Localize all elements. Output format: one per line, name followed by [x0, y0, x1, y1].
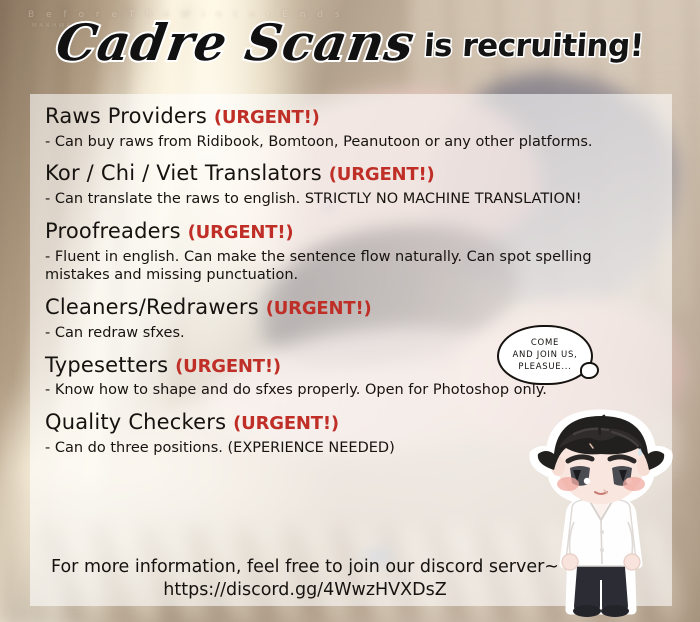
role-item: Raws Providers (URGENT!) - Can buy raws …: [45, 104, 605, 151]
title-main-text: Cadre Scans: [53, 18, 418, 68]
title-tail-text: is recruiting!: [423, 31, 645, 62]
role-description: - Can translate the raws to english. STR…: [45, 190, 605, 209]
footer-invite-text: For more information, feel free to join …: [45, 556, 565, 579]
role-description: - Can buy raws from Ridibook, Bomtoon, P…: [45, 133, 605, 152]
role-item: Proofreaders (URGENT!) - Fluent in engli…: [45, 219, 605, 285]
urgent-badge: (URGENT!): [233, 413, 339, 434]
chibi-blush-left: [557, 477, 579, 491]
role-title: Cleaners/Redrawers (URGENT!): [45, 295, 605, 321]
role-item: Kor / Chi / Viet Translators (URGENT!) -…: [45, 161, 605, 208]
urgent-badge: (URGENT!): [266, 298, 372, 319]
speech-bubble: COME AND JOIN US, PLEASUE...: [497, 325, 593, 385]
footer-info: For more information, feel free to join …: [45, 556, 565, 602]
poster-title: Cadre Scansis recruiting!: [0, 18, 700, 68]
role-title-label: Kor / Chi / Viet Translators: [45, 161, 322, 185]
role-title-label: Proofreaders: [45, 219, 181, 243]
role-description: - Know how to shape and do sfxes properl…: [45, 381, 605, 400]
urgent-badge: (URGENT!): [214, 107, 320, 128]
role-title-label: Typesetters: [45, 353, 168, 377]
urgent-badge: (URGENT!): [188, 222, 294, 243]
urgent-badge: (URGENT!): [329, 164, 435, 185]
speech-bubble-text: COME AND JOIN US, PLEASUE...: [513, 337, 578, 374]
chibi-blush-right: [623, 477, 645, 491]
role-title-label: Cleaners/Redrawers: [45, 295, 259, 319]
role-title-label: Raws Providers: [45, 104, 207, 128]
role-title: Raws Providers (URGENT!): [45, 104, 605, 130]
role-title: Kor / Chi / Viet Translators (URGENT!): [45, 161, 605, 187]
chibi-character-illustration: [512, 404, 690, 618]
role-title: Proofreaders (URGENT!): [45, 219, 605, 245]
recruitment-poster: B e f o r e T h e W i n t e r E n d s MA…: [0, 0, 700, 622]
role-description: - Fluent in english. Can make the senten…: [45, 248, 605, 286]
discord-link[interactable]: https://discord.gg/4WwzHVXDsZ: [45, 579, 565, 602]
role-title-label: Quality Checkers: [45, 410, 226, 434]
urgent-badge: (URGENT!): [175, 356, 281, 377]
